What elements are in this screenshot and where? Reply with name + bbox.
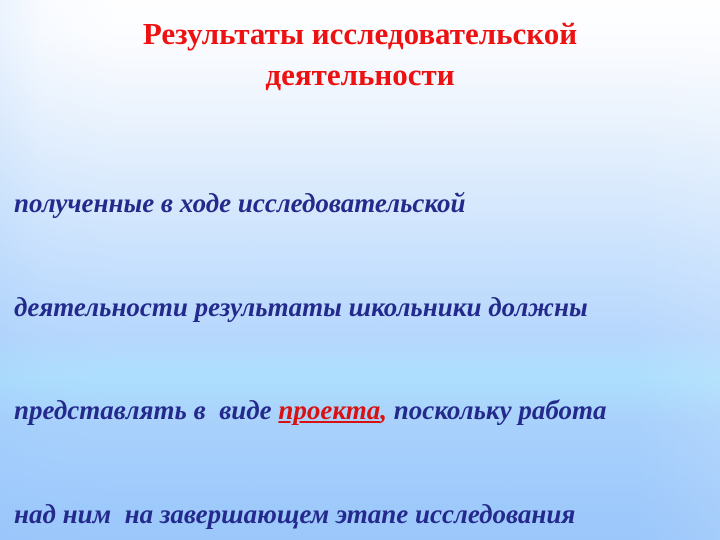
title-line-2: деятельности <box>0 54 720 95</box>
body-line-1: полученные в ходе исследовательской <box>14 186 704 221</box>
slide-body-text: полученные в ходе исследовательской деят… <box>14 117 704 540</box>
title-line-1: Результаты исследовательской <box>0 13 720 54</box>
body-line-3-tail: поскольку работа <box>387 395 606 425</box>
highlight-word-proekta: проекта <box>278 395 380 425</box>
body-line-2: деятельности результаты школьники должны <box>14 290 704 325</box>
slide-title: Результаты исследовательской деятельност… <box>0 13 720 95</box>
presentation-slide: Результаты исследовательской деятельност… <box>0 0 720 540</box>
body-line-3-head: представлять в виде <box>14 395 278 425</box>
body-line-4: над ним на завершающем этапе исследовани… <box>14 497 704 532</box>
body-line-3: представлять в виде проекта, поскольку р… <box>14 393 704 428</box>
highlight-comma: , <box>380 395 387 425</box>
